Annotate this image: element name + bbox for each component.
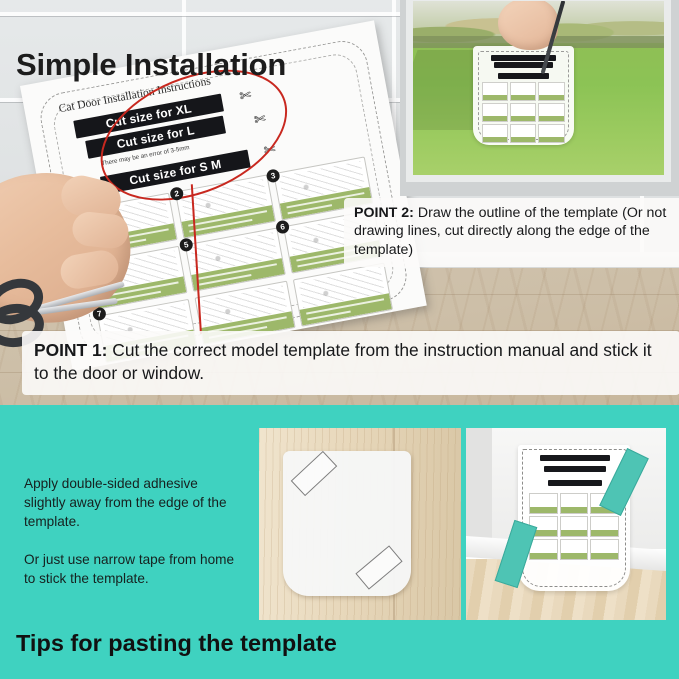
photo-window-template bbox=[400, 0, 679, 196]
step-cell bbox=[292, 263, 393, 327]
point-1-label: POINT 1: bbox=[34, 340, 107, 360]
product-instruction-image: Cat Door Installation Instructions Cut s… bbox=[0, 0, 679, 679]
cut-size-bar-l bbox=[544, 466, 607, 472]
step-cell bbox=[185, 228, 286, 292]
wall-mounted-template bbox=[518, 445, 630, 591]
callout-point-2: POINT 2: Draw the outline of the templat… bbox=[344, 198, 679, 267]
tape-strip bbox=[355, 545, 402, 589]
point-2-label: POINT 2: bbox=[354, 205, 414, 221]
callout-point-1: POINT 1: Cut the correct model template … bbox=[22, 331, 679, 395]
window-glass-view bbox=[413, 1, 664, 175]
top-photo-section: Cat Door Installation Instructions Cut s… bbox=[0, 0, 679, 405]
photo-door-template bbox=[259, 428, 461, 620]
cut-size-bar-sm bbox=[498, 73, 548, 79]
tape-strip bbox=[291, 451, 338, 496]
door-mounted-template bbox=[283, 451, 411, 596]
tips-section: Apply double-sided adhesive slightly awa… bbox=[0, 405, 679, 679]
tip-tape-text: Or just use narrow tape from home to sti… bbox=[24, 550, 240, 588]
tips-heading: Tips for pasting the template bbox=[16, 630, 337, 657]
window-frame bbox=[406, 0, 671, 182]
instruction-step-grid bbox=[482, 82, 564, 143]
page-title: Simple Installation bbox=[16, 47, 286, 83]
photo-wall-template bbox=[466, 428, 666, 620]
scissors-icon bbox=[0, 274, 114, 334]
window-mounted-template bbox=[473, 46, 573, 145]
point-1-text: Cut the correct model template from the … bbox=[34, 340, 652, 383]
cut-size-bar-sm bbox=[548, 480, 602, 486]
tip-adhesive-text: Apply double-sided adhesive slightly awa… bbox=[24, 474, 240, 531]
cut-size-bar-xl bbox=[540, 455, 609, 461]
